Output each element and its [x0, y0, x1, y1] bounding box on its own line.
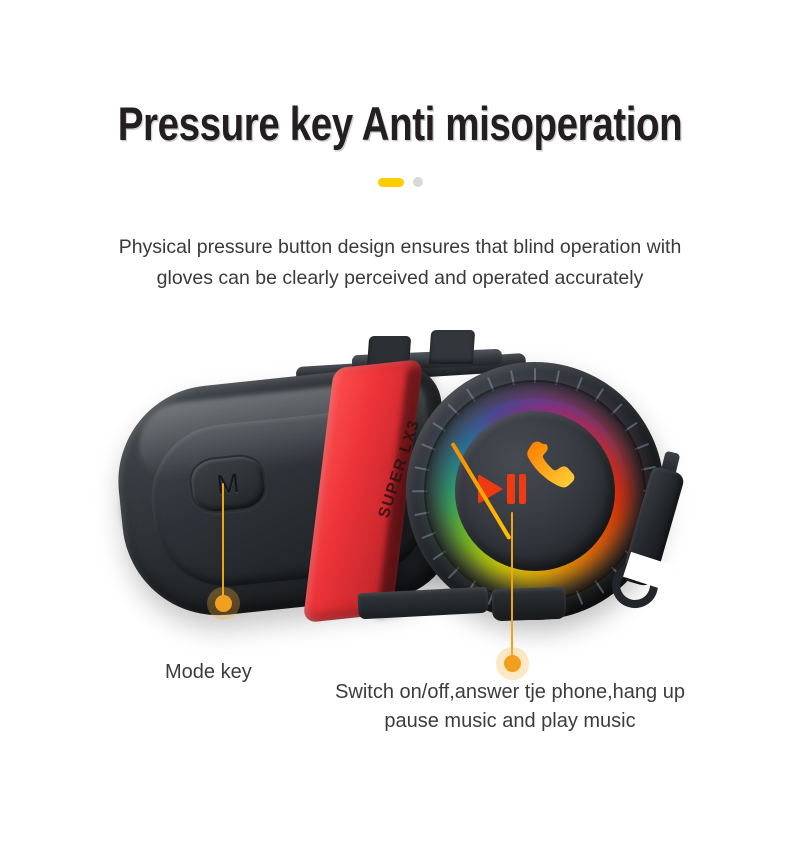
callout-label-mode-key: Mode key — [165, 658, 252, 687]
callout-multifunction-line-1: Switch on/off,answer tje phone,hang up — [300, 678, 720, 707]
pagination-active-indicator[interactable] — [378, 178, 404, 187]
page-subtitle: Physical pressure button design ensures … — [0, 232, 800, 294]
bluetooth-headset-device: M SUPER LX3 — [0, 300, 800, 660]
subtitle-line-1: Physical pressure button design ensures … — [0, 232, 800, 263]
mode-key-glyph: M — [215, 469, 240, 498]
callout-dot-mode-key — [215, 595, 232, 612]
page-headline: Pressure key Anti misoperation — [72, 100, 728, 147]
callout-label-multifunction: Switch on/off,answer tje phone,hang up p… — [300, 678, 720, 736]
top-clip-tab-right — [429, 330, 475, 364]
phone-handset-icon — [520, 436, 582, 498]
product-stage: M SUPER LX3 — [0, 300, 800, 800]
callout-dot-multifunction — [504, 655, 521, 672]
subtitle-line-2: gloves can be clearly perceived and oper… — [0, 263, 800, 294]
carousel-pagination — [0, 177, 800, 187]
mount-foot-right — [491, 587, 566, 622]
pagination-inactive-indicator[interactable] — [413, 177, 423, 187]
callout-multifunction-line-2: pause music and play music — [300, 707, 720, 736]
